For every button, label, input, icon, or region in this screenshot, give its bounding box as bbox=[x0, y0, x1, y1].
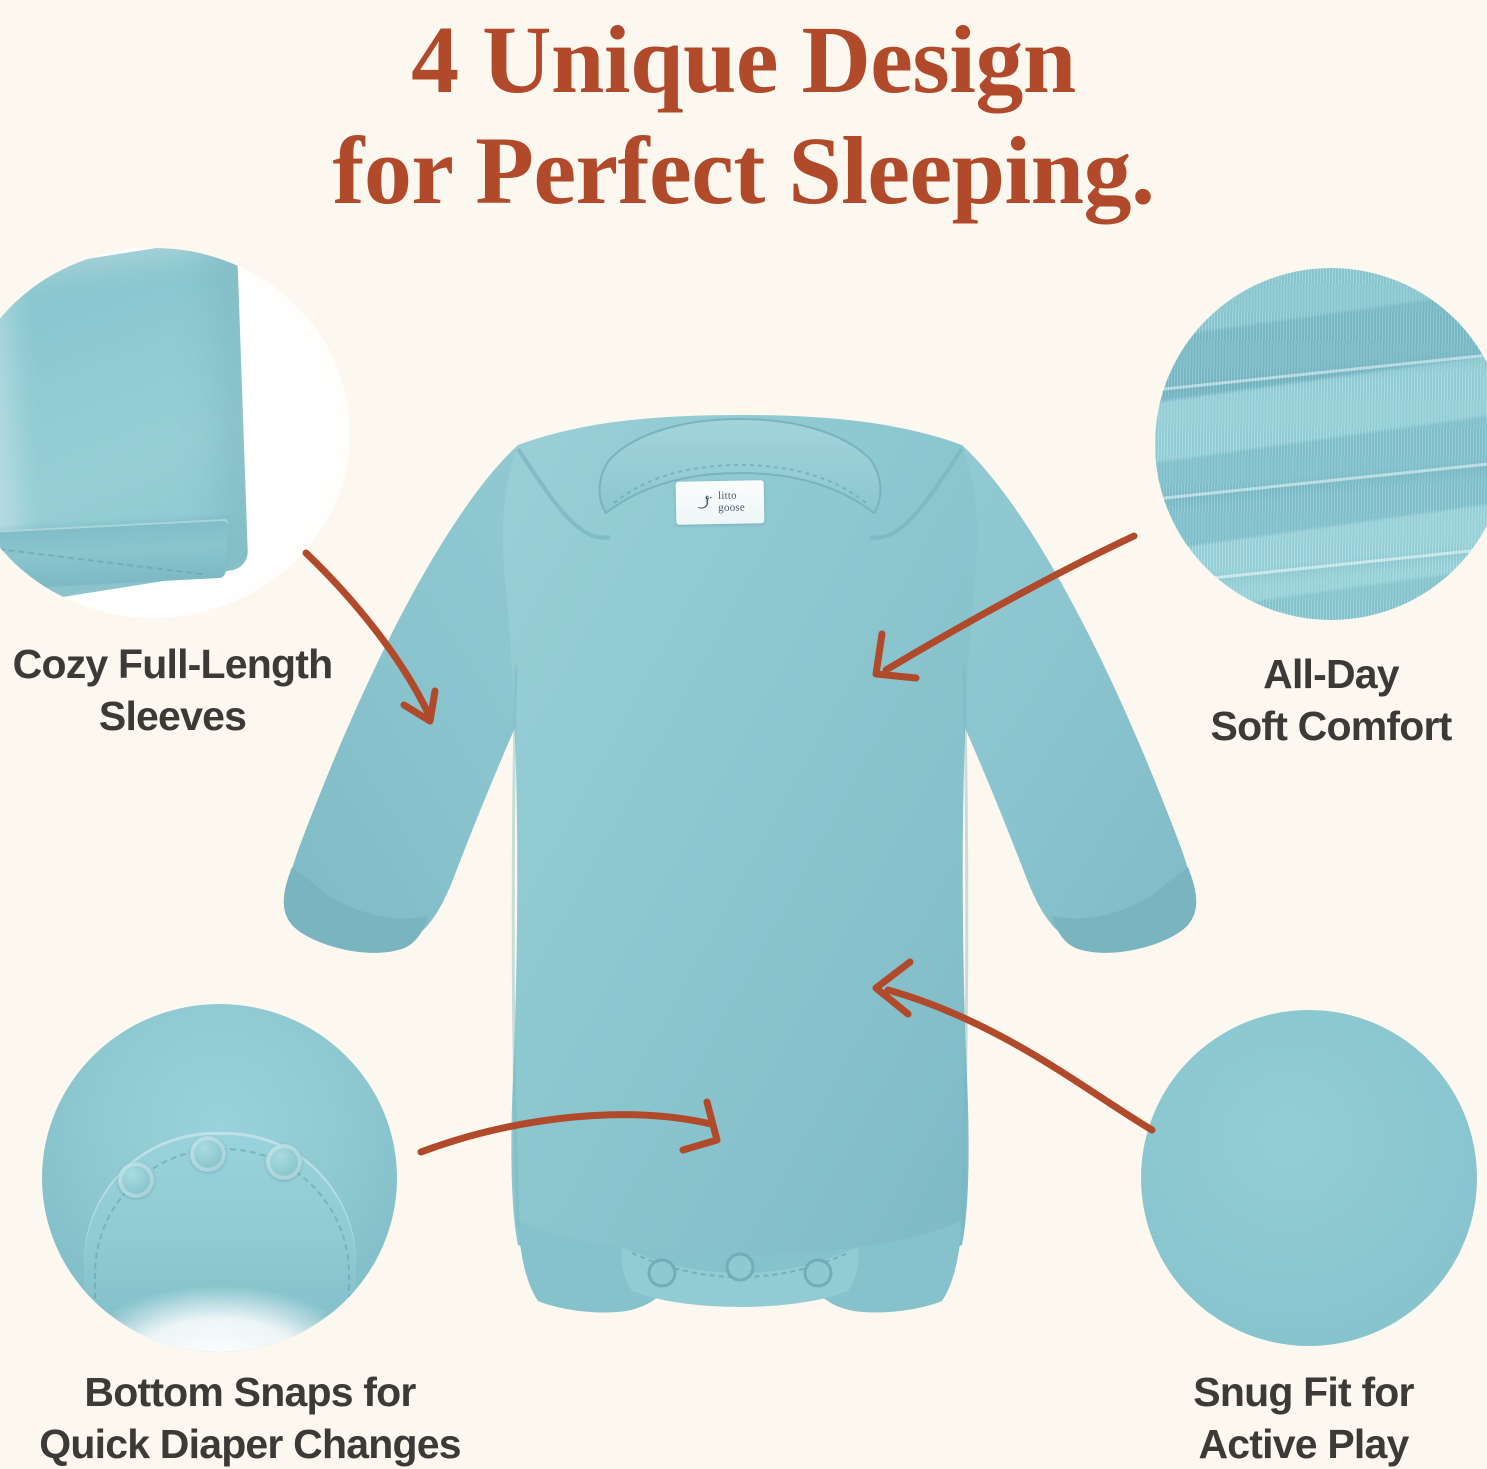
goose-icon bbox=[695, 492, 714, 514]
product-bodysuit bbox=[218, 415, 1258, 1315]
fabric-fold-line bbox=[1155, 349, 1487, 395]
snap-button-icon bbox=[649, 1260, 675, 1286]
feature-label-line-1: All-Day bbox=[1175, 648, 1487, 700]
headline-line-2: for Perfect Sleeping. bbox=[0, 115, 1487, 226]
feature-label-bottom-snaps-quick-diaper-changes: Bottom Snaps for Quick Diaper Changes bbox=[0, 1366, 500, 1469]
feature-label-line-2: Quick Diaper Changes bbox=[0, 1418, 500, 1469]
brand-neck-tag: litto goose bbox=[676, 480, 765, 525]
infographic-page: 4 Unique Design for Perfect Sleeping. bbox=[0, 0, 1487, 1469]
headline-line-1: 4 Unique Design bbox=[0, 4, 1487, 115]
feature-label-cozy-full-length-sleeves: Cozy Full-Length Sleeves bbox=[0, 638, 345, 743]
snap-button-icon bbox=[805, 1260, 831, 1286]
torso bbox=[503, 415, 977, 1283]
brand-tag-text: litto goose bbox=[718, 491, 745, 514]
page-headline: 4 Unique Design for Perfect Sleeping. bbox=[0, 4, 1487, 227]
feature-label-line-2: Sleeves bbox=[0, 690, 345, 742]
feature-label-line-2: Active Play bbox=[1120, 1418, 1487, 1469]
feature-label-line-1: Bottom Snaps for bbox=[0, 1366, 500, 1418]
feature-label-all-day-soft-comfort: All-Day Soft Comfort bbox=[1175, 648, 1487, 753]
feature-label-line-1: Snug Fit for bbox=[1120, 1366, 1487, 1418]
snap-button-icon bbox=[727, 1254, 753, 1280]
feature-label-line-2: Soft Comfort bbox=[1175, 700, 1487, 752]
feature-label-snug-fit-active-play: Snug Fit for Active Play bbox=[1120, 1366, 1487, 1469]
feature-label-line-1: Cozy Full-Length bbox=[0, 638, 345, 690]
brand-tag-line-2: goose bbox=[718, 502, 745, 514]
